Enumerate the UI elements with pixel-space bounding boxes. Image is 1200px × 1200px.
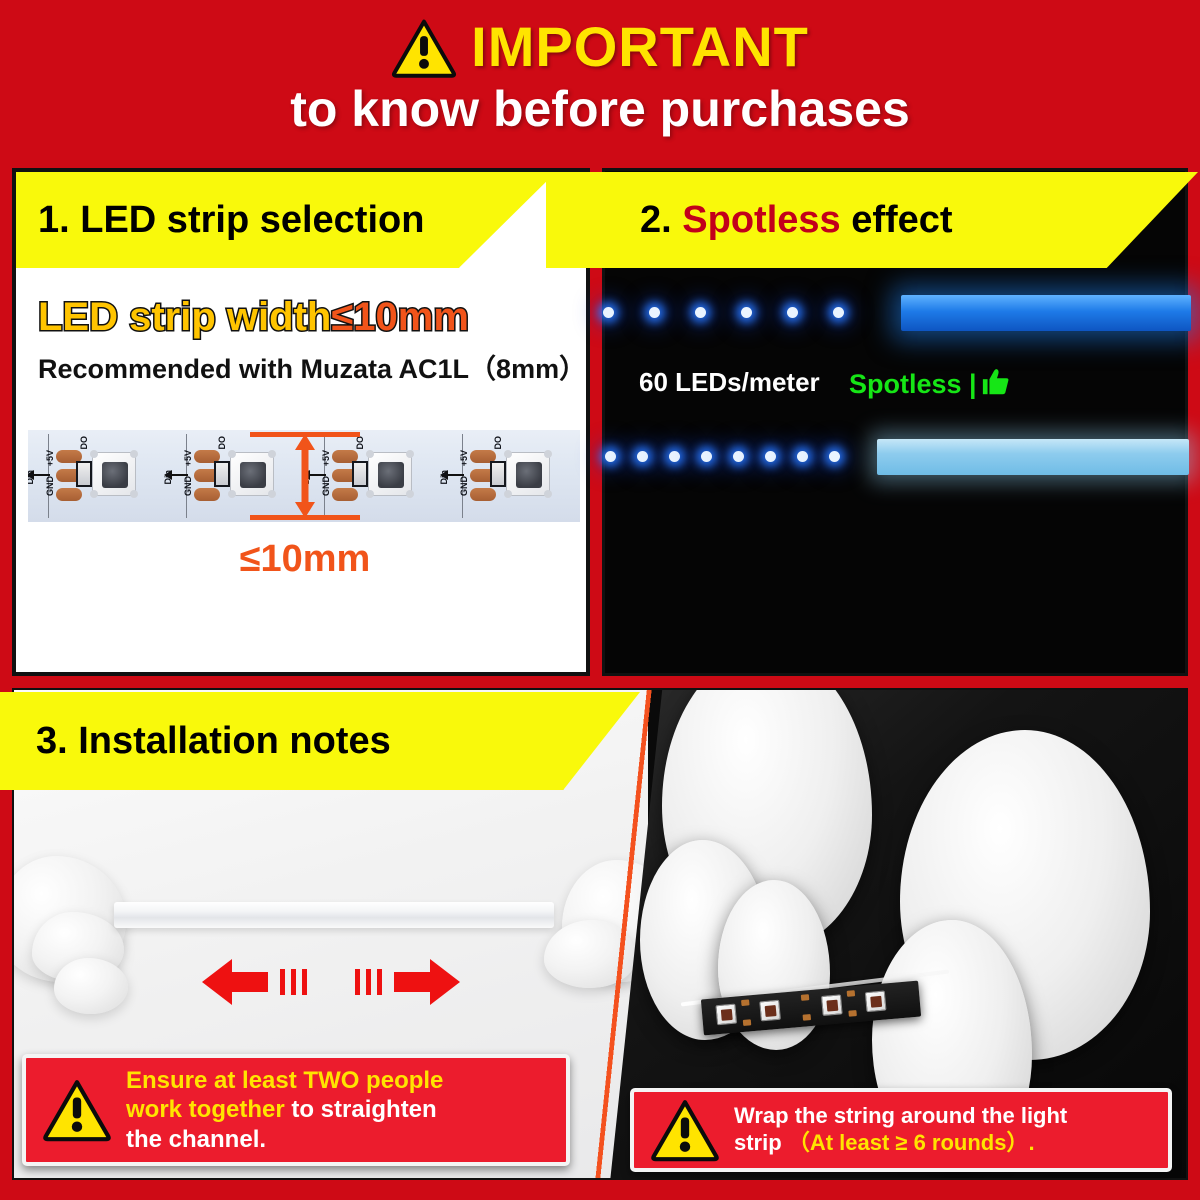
thumbs-up-icon [981,367,1011,397]
aluminum-channel [114,902,554,928]
page-subtitle: to know before purchases [290,84,910,134]
section-2-title: 2. Spotless effect [640,201,953,239]
arrow-right-icon [394,957,460,1007]
warning-box-right: Wrap the string around the light strip （… [630,1088,1172,1172]
warning-box-left: Ensure at least TWO people work together… [22,1054,570,1166]
header-banner: IMPORTANT to know before purchases [0,0,1200,152]
section-2-suffix: effect [851,199,952,241]
pad-label-din: Din [28,470,35,485]
section-2-number: 2. [640,199,672,241]
led-dot-row-60 [599,443,879,473]
diffused-bar-60 [877,439,1189,475]
warning-left-line2-white: to straighten [285,1096,437,1123]
arrow-left-icon [202,957,268,1007]
warning-text-left: Ensure at least TWO people work together… [126,1066,443,1154]
pad-label-din: Din [164,470,173,485]
warning-left-line2-yellow: work together [126,1096,285,1123]
measure-arrow-icon [294,434,316,518]
header-title-row: IMPORTANT [0,8,1200,86]
pad-label-5v: +5V [46,450,55,466]
warning-triangle-icon [650,1098,720,1162]
density-label-60: 60 LEDs/meter [639,369,820,395]
arrow-right-ticks [355,969,382,995]
footer-bar [0,1180,1200,1200]
pad-label-din: Din [440,470,449,485]
spotless-badge: Spotless | [849,367,1011,401]
warning-right-line1: Wrap the string around the light [734,1103,1067,1128]
pad-label-do: DO [356,436,365,450]
pad-label-do: DO [218,436,227,450]
pad-label-5v: +5V [184,450,193,466]
arrow-left-ticks [280,969,307,995]
pad-label-do: DO [494,436,503,450]
strip-width-value: ≤10mm [331,295,469,339]
warning-triangle-icon [42,1078,112,1142]
warning-text-right: Wrap the string around the light strip （… [734,1103,1067,1157]
warning-left-line3: the channel. [126,1126,266,1153]
spotless-badge-label: Spotless | [849,371,977,398]
stretch-arrows-group [14,952,648,1012]
warning-left-line1: Ensure at least TWO people [126,1067,443,1094]
header-subtitle-row: to know before purchases [0,78,1200,140]
led-strip-photo: +5V GND Din DO +5V GND Din [28,430,580,522]
strip-width-caption: ≤10mm [16,540,594,578]
warning-triangle-icon [391,17,457,79]
warning-right-line2-yellow: （At least ≥ 6 rounds）. [788,1130,1035,1155]
section-2-banner: 2. Spotless effect [546,172,1198,268]
section-3-title: 3. Installation notes [36,722,391,760]
pad-label-5v: +5V [460,450,469,466]
strip-width-label: LED strip width [38,295,331,339]
section-1-title: 1. LED strip selection [38,201,424,239]
recommendation-text: Recommended with Muzata AC1L（8mm） [38,355,583,385]
section-3-banner: 3. Installation notes [0,692,640,790]
diffused-bar-30 [901,295,1191,331]
warning-right-line2-white: strip [734,1130,782,1155]
section-2-highlight: Spotless [682,199,840,241]
pad-label-5v: +5V [322,450,331,466]
pad-label-do: DO [80,436,89,450]
page-title: IMPORTANT [471,19,809,75]
strip-width-spec: LED strip width≤10mm [38,297,578,349]
led-dot-row-30 [599,299,899,329]
